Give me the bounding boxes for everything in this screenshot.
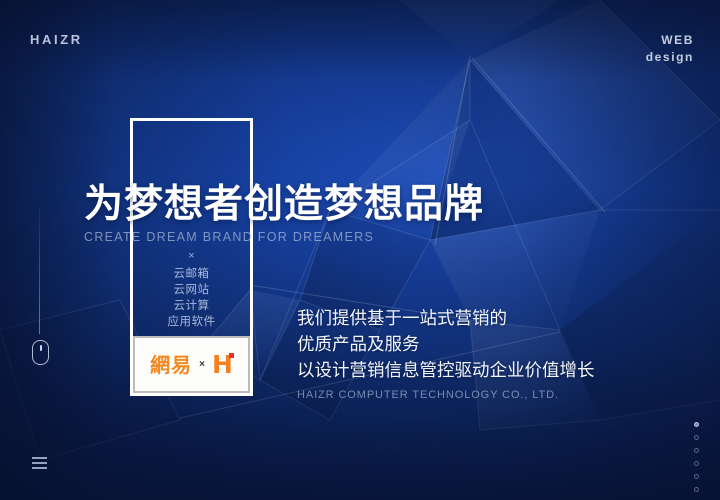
brand-logo-haizr[interactable]: HAIZR: [30, 32, 83, 47]
logo-separator-x: ×: [199, 359, 205, 370]
description-line-3: 以设计营销信息管控驱动企业价值增长: [297, 358, 595, 384]
partner-logo-card[interactable]: 網易 × H: [133, 336, 250, 393]
pagination-dot[interactable]: [694, 487, 699, 492]
hamburger-bar: [32, 467, 47, 469]
pagination-dot[interactable]: [694, 435, 699, 440]
hamburger-bar: [32, 462, 47, 464]
mouse-scroll-icon[interactable]: [32, 340, 49, 365]
menu-item-cloud-mail[interactable]: 云邮箱: [130, 265, 253, 281]
page-subtitle: CREATE DREAM BRAND FOR DREAMERS: [84, 230, 484, 244]
description-block: 我们提供基于一站式营销的 优质产品及服务 以设计营销信息管控驱动企业价值增长 H…: [297, 306, 595, 401]
company-name-english: HAIZR COMPUTER TECHNOLOGY CO., LTD.: [297, 389, 595, 401]
brand-tagline-webdesign: WEB design: [646, 32, 694, 66]
product-menu-list: 云邮箱 云网站 云计算 应用软件: [130, 265, 253, 329]
decorative-bracket-base: [130, 393, 253, 396]
menu-item-cloud-website[interactable]: 云网站: [130, 281, 253, 297]
background-vignette: [0, 0, 720, 500]
pagination-dot[interactable]: [694, 448, 699, 453]
brand-tagline-line2: design: [646, 49, 694, 66]
hamburger-bar: [32, 457, 47, 459]
slide-canvas: HAIZR WEB design 为梦想者创造梦想品牌 CREATE DREAM…: [0, 0, 720, 500]
hamburger-menu-icon[interactable]: [32, 457, 47, 469]
page-title: 为梦想者创造梦想品牌: [84, 183, 484, 227]
netease-logo: 網易: [150, 354, 192, 376]
scroll-rail-line: [39, 208, 40, 334]
pagination-dot[interactable]: [694, 474, 699, 479]
pagination-dot[interactable]: [694, 461, 699, 466]
h-product-logo: H: [212, 352, 233, 377]
menu-divider-mark: ×: [130, 251, 253, 262]
description-line-1: 我们提供基于一站式营销的: [297, 306, 595, 332]
menu-item-cloud-computing[interactable]: 云计算: [130, 297, 253, 313]
brand-tagline-line1: WEB: [646, 32, 694, 49]
menu-item-application-software[interactable]: 应用软件: [130, 313, 253, 329]
hero-text-block: 为梦想者创造梦想品牌 CREATE DREAM BRAND FOR DREAME…: [84, 183, 484, 244]
description-line-2: 优质产品及服务: [297, 332, 595, 358]
slide-pagination[interactable]: [694, 422, 699, 492]
pagination-dot[interactable]: [694, 422, 699, 427]
